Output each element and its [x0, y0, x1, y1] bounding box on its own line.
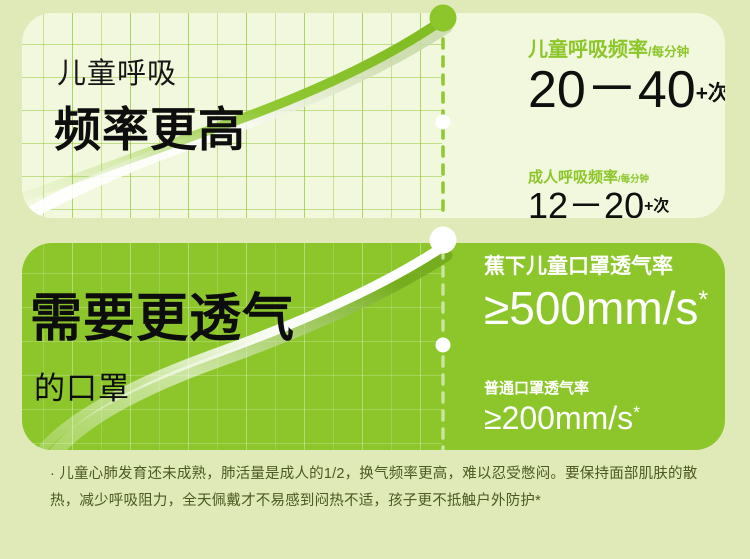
normal-stat-label: 普通口罩透气率 — [484, 381, 640, 396]
ours-stat-number: ≥500mm/s — [484, 285, 698, 331]
child-stat-label-text: 儿童呼吸频率 — [528, 39, 648, 61]
breathing-rate-panel: 儿童呼吸 频率更高 儿童呼吸频率/每分钟 20－40+次 成人呼吸频率/每分钟 … — [22, 13, 725, 218]
child-stat-number: 20－40 — [528, 64, 696, 116]
adult-stat-suffix: +次 — [644, 199, 669, 218]
normal-stat-number: ≥200mm/s — [484, 402, 633, 434]
top-headline-line2: 频率更高 — [54, 91, 246, 160]
ours-breathability-stat: 蕉下儿童口罩透气率 ≥500mm/s* — [484, 256, 708, 331]
infographic-stage: 儿童呼吸 频率更高 儿童呼吸频率/每分钟 20－40+次 成人呼吸频率/每分钟 … — [0, 0, 750, 559]
adult-stat-value: 12－20+次 — [528, 188, 669, 218]
adult-breathing-stat: 成人呼吸频率/每分钟 12－20+次 — [528, 170, 669, 218]
ours-stat-star: * — [698, 285, 708, 313]
child-breathing-stat: 儿童呼吸频率/每分钟 20－40+次 — [528, 40, 725, 116]
adult-stat-unit: /每分钟 — [618, 174, 649, 185]
normal-stat-star: * — [633, 402, 640, 422]
footnote-text: · 儿童心肺发育还未成熟，肺活量是成人的1/2，换气频率更高，难以忍受憋闷。要保… — [50, 461, 710, 515]
top-headline-line1: 儿童呼吸 — [57, 50, 177, 92]
adult-stat-label-text: 成人呼吸频率 — [528, 169, 618, 186]
child-stat-label: 儿童呼吸频率/每分钟 — [528, 40, 725, 60]
child-stat-value: 20－40+次 — [528, 64, 725, 116]
ours-stat-value: ≥500mm/s* — [484, 285, 708, 331]
ours-stat-label: 蕉下儿童口罩透气率 — [484, 256, 708, 277]
bottom-headline-line2: 的口罩 — [34, 363, 130, 408]
child-stat-unit: /每分钟 — [648, 45, 689, 59]
bottom-headline-line1: 需要更透气 — [30, 276, 295, 351]
normal-stat-value: ≥200mm/s* — [484, 402, 640, 434]
adult-stat-number: 12－20 — [528, 188, 644, 218]
child-stat-suffix: +次 — [696, 84, 725, 116]
adult-stat-label: 成人呼吸频率/每分钟 — [528, 170, 669, 185]
normal-breathability-stat: 普通口罩透气率 ≥200mm/s* — [484, 381, 640, 434]
